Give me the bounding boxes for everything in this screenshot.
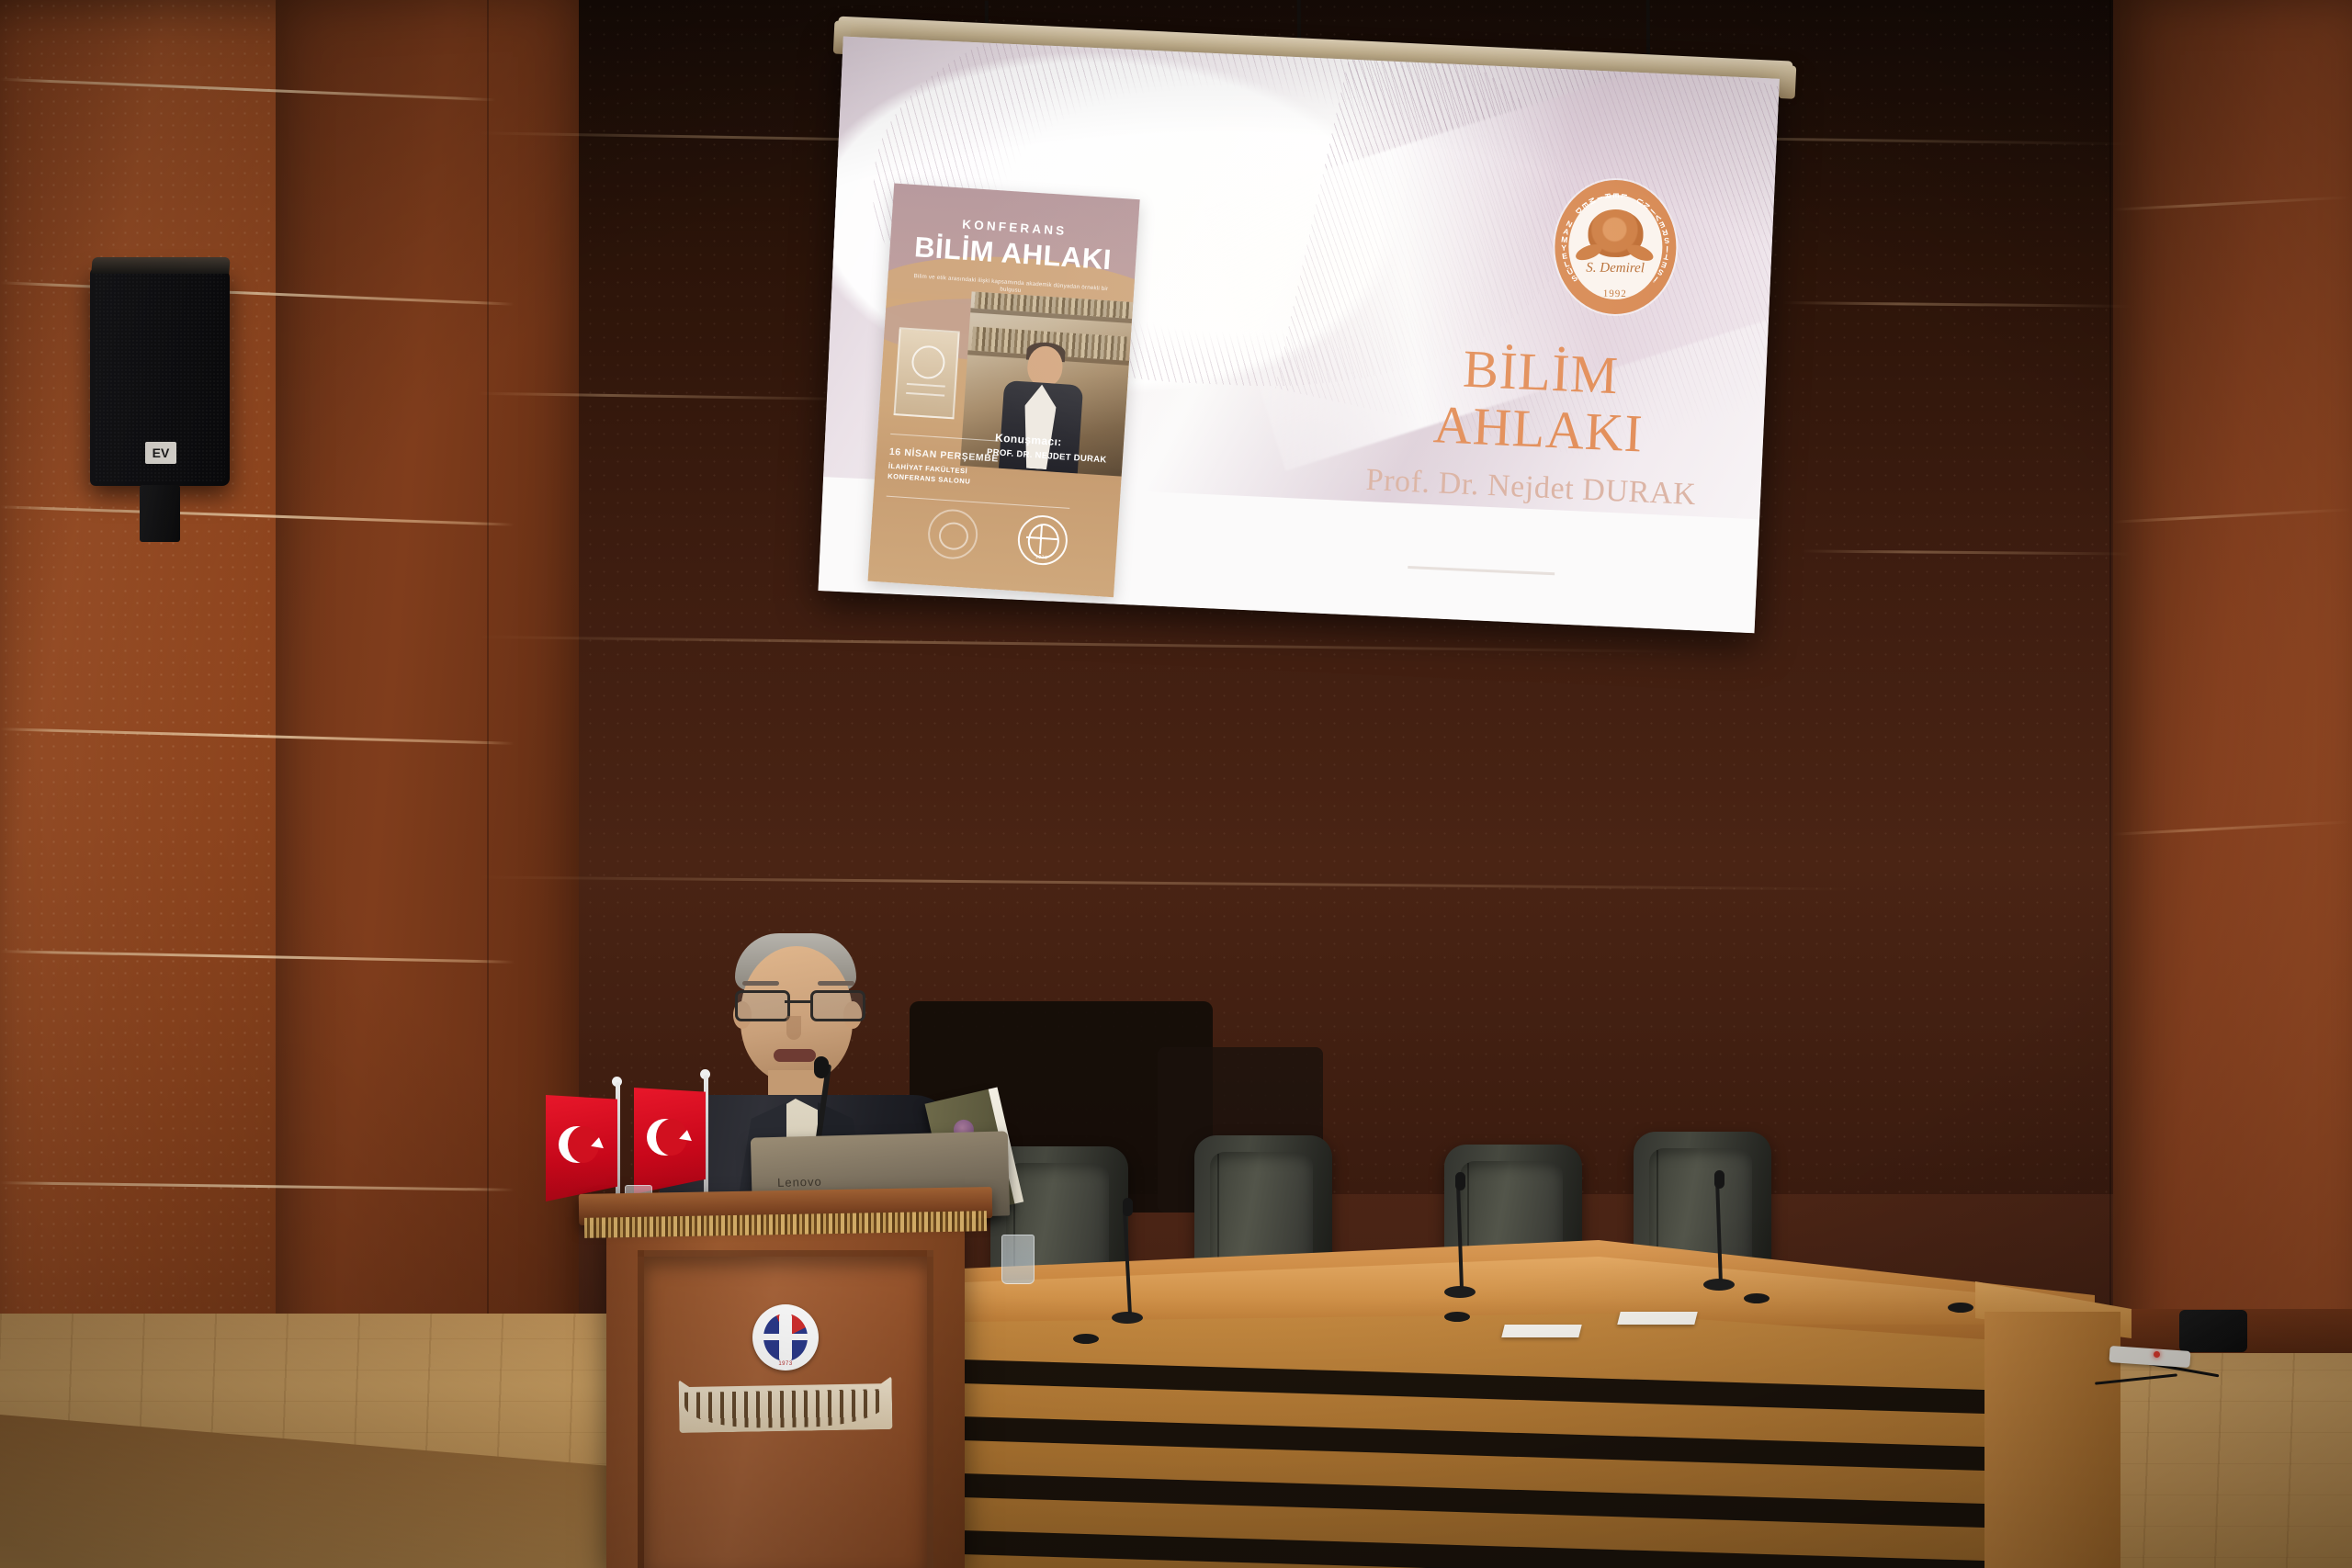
presenter-mouth <box>774 1049 816 1062</box>
laptop-brand-label: Lenovo <box>777 1175 822 1190</box>
microphone-puck <box>1444 1312 1470 1322</box>
microphone-base[interactable] <box>1112 1312 1143 1324</box>
seal-ring-char: İ <box>1652 275 1659 284</box>
poster-card-line <box>906 392 944 397</box>
seal-ring-char: E <box>1561 251 1568 261</box>
glasses-lens <box>735 990 790 1021</box>
microphone-base[interactable] <box>1444 1286 1476 1298</box>
roller-end-cap <box>1779 65 1797 99</box>
power-led-icon <box>2154 1351 2160 1358</box>
slide-main-title: BİLİM AHLAKI <box>1340 335 1739 467</box>
poster-card-line <box>907 383 945 388</box>
seal-ring-char: N <box>1565 219 1574 230</box>
projection-screen: S. Demirel 1992 SÜLEYMAN DEMİREL ÜNİVERS… <box>838 4 1795 878</box>
slide-footer-rule <box>1408 566 1555 575</box>
conference-poster: KONFERANS BİLİM AHLAKI Bilim ve etik ara… <box>868 183 1140 597</box>
star-icon <box>679 1129 694 1141</box>
power-adapter <box>2179 1310 2247 1352</box>
eyeglasses-icon <box>735 990 860 1018</box>
poster-card-emblem <box>910 344 945 379</box>
speaker-top-bevel <box>91 257 230 274</box>
emblem-year: 1973 <box>752 1361 819 1367</box>
microphone-base[interactable] <box>1703 1279 1735 1291</box>
university-seal: S. Demirel 1992 SÜLEYMAN DEMİREL ÜNİVERS… <box>1555 179 1678 314</box>
colonnade-ornament <box>679 1376 893 1433</box>
conference-hall-photo: EV <box>0 0 2352 1568</box>
drinking-glass[interactable] <box>1001 1235 1035 1284</box>
seal-ring-text: SÜLEYMAN DEMİREL ÜNİVERSİTESİ <box>1555 179 1678 314</box>
wall-corner-seam <box>487 0 489 1378</box>
poster-venue: İLAHİYAT FAKÜLTESİ KONFERANS SALONU <box>888 461 972 487</box>
speaker-mount-bracket <box>140 485 180 542</box>
screen-surface: S. Demirel 1992 SÜLEYMAN DEMİREL ÜNİVERS… <box>819 37 1780 634</box>
star-icon <box>591 1136 605 1148</box>
seal-ring-char: L <box>1619 193 1629 199</box>
microphone-puck <box>1744 1293 1770 1303</box>
presenter-eyebrow <box>742 981 779 986</box>
name-card <box>1501 1325 1581 1337</box>
podium: 1973 <box>606 1208 965 1568</box>
projected-slide: S. Demirel 1992 SÜLEYMAN DEMİREL ÜNİVERS… <box>819 37 1780 634</box>
poster-book-card <box>894 327 960 419</box>
presenter-nose <box>786 1016 801 1040</box>
table-right-wing-front <box>1984 1312 2120 1568</box>
logo-year: 1973 <box>1018 553 1064 561</box>
microphone-puck <box>1948 1303 1973 1313</box>
microphone-capsule <box>1455 1172 1465 1190</box>
knot-inner <box>938 522 969 551</box>
colonnade-columns <box>684 1389 888 1429</box>
ilahiyat-knot-emblem-icon <box>926 508 978 560</box>
gaziantep-university-globe-icon: 1973 <box>1016 513 1069 566</box>
podium-microphone-capsule <box>814 1056 829 1078</box>
speaker-brand-badge: EV <box>145 442 176 464</box>
wall-corner-seam <box>2109 0 2111 1314</box>
microphone-capsule <box>1123 1198 1133 1216</box>
poster-logos: 1973 <box>869 502 1118 574</box>
microphone-puck <box>1073 1334 1099 1344</box>
glasses-lens <box>810 990 865 1021</box>
glasses-bridge <box>785 1000 810 1003</box>
emblem-equator <box>762 1334 809 1340</box>
name-card <box>1617 1312 1697 1325</box>
wall-speaker: EV <box>90 268 230 486</box>
presenter-eyebrow <box>818 981 854 986</box>
microphone-capsule <box>1714 1170 1724 1189</box>
podium-front-panel: 1973 <box>638 1250 933 1568</box>
gaziantep-university-emblem-icon: 1973 <box>752 1304 819 1371</box>
